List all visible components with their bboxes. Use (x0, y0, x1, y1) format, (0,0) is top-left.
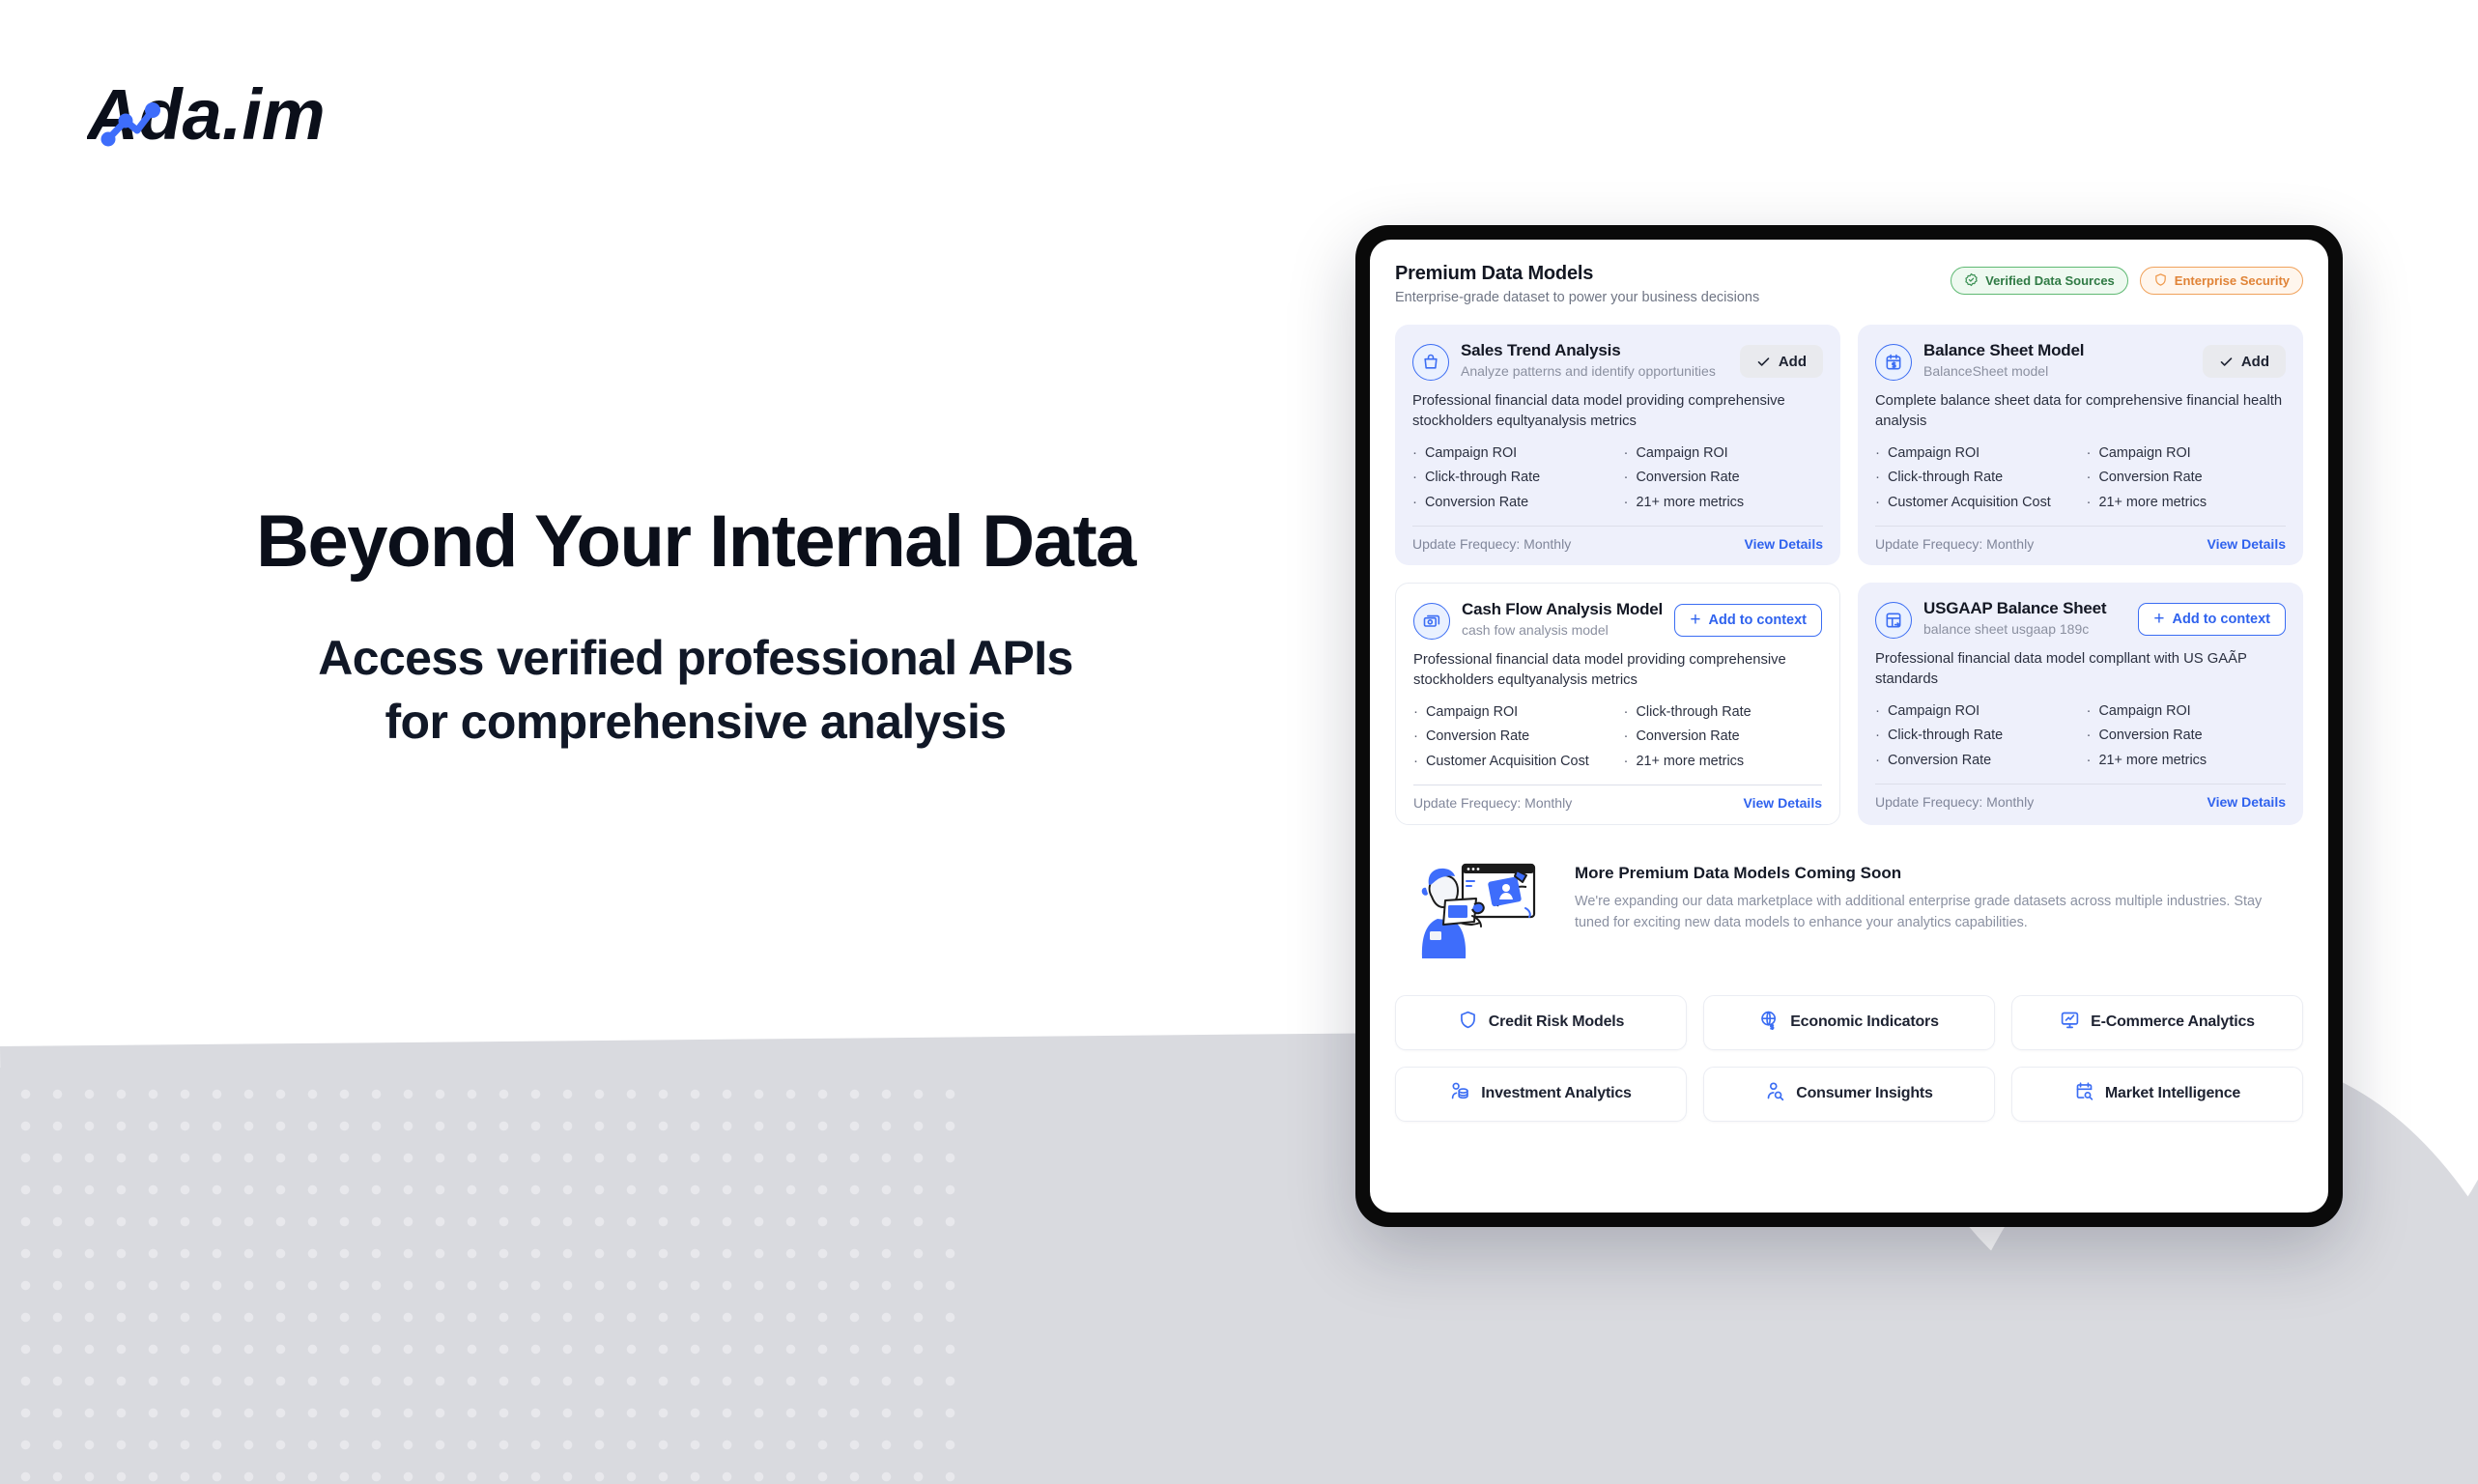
model-card-subtitle: BalanceSheet model (1923, 362, 2191, 380)
category-label: Consumer Insights (1796, 1085, 1933, 1102)
coming-soon-text: We're expanding our data marketplace wit… (1575, 892, 2290, 934)
metric-label: Conversion Rate (2099, 725, 2203, 747)
model-card-header: Cash Flow Analysis Model cash fow analys… (1413, 600, 1822, 640)
bullet-icon: · (2087, 442, 2092, 465)
category-consumer-insights[interactable]: Consumer Insights (1703, 1067, 1995, 1122)
category-label: E-Commerce Analytics (2091, 1013, 2255, 1031)
panel-title: Premium Data Models (1395, 263, 1759, 285)
category-label: Economic Indicators (1790, 1013, 1939, 1031)
panel-heading-group: Premium Data Models Enterprise-grade dat… (1395, 263, 1759, 305)
bullet-icon: · (1412, 492, 1417, 514)
bullet-icon: · (1412, 442, 1417, 465)
metric-label: Campaign ROI (1888, 700, 1980, 723)
bullet-icon: · (2087, 725, 2092, 747)
add-model-button[interactable]: Add (1740, 345, 1823, 378)
metric-item: ·Campaign ROI (1624, 442, 1824, 465)
divider (1413, 785, 1822, 785)
metric-label: Conversion Rate (1426, 726, 1529, 748)
model-metrics-list: ·Campaign ROI ·Campaign ROI ·Click-throu… (1875, 442, 2286, 514)
bullet-icon: · (1413, 726, 1418, 748)
device-screen: Premium Data Models Enterprise-grade dat… (1370, 240, 2328, 1213)
plus-icon: + (1690, 611, 1700, 629)
metric-label: Click-through Rate (1637, 701, 1752, 724)
coming-soon-body: More Premium Data Models Coming Soon We'… (1575, 858, 2290, 934)
view-details-link[interactable]: View Details (2207, 536, 2286, 552)
calendar-search-icon (2074, 1081, 2094, 1106)
shopping-bag-icon (1412, 344, 1449, 381)
bullet-icon: · (2087, 467, 2092, 489)
bullet-icon: · (1624, 442, 1629, 465)
model-card-header: USGAAP Balance Sheet balance sheet usgaa… (1875, 599, 2286, 639)
metric-label: Customer Acquisition Cost (1426, 751, 1589, 773)
update-frequency-label: Update Frequecy: Monthly (1412, 536, 1571, 552)
shield-icon (1458, 1010, 1478, 1035)
metric-label: 21+ more metrics (1637, 492, 1745, 514)
category-label: Investment Analytics (1481, 1085, 1631, 1102)
model-card[interactable]: USGAAP Balance Sheet balance sheet usgaa… (1858, 583, 2303, 825)
status-badge-security: Enterprise Security (2140, 267, 2303, 295)
table-export-icon (1875, 602, 1912, 639)
bullet-icon: · (1875, 750, 1880, 772)
model-card-grid: Sales Trend Analysis Analyze patterns an… (1395, 325, 2303, 825)
bullet-icon: · (1875, 492, 1880, 514)
metric-item: ·21+ more metrics (2087, 492, 2287, 514)
metric-label: Campaign ROI (1426, 701, 1518, 724)
metric-item: ·Campaign ROI (1413, 701, 1612, 724)
hero-subheadline-line1: Access verified professional APIs (318, 631, 1072, 685)
coming-soon-title: More Premium Data Models Coming Soon (1575, 864, 2290, 883)
hero-section: Beyond Your Internal Data Access verifie… (58, 502, 1333, 754)
metric-label: Conversion Rate (1637, 467, 1740, 489)
metric-label: Click-through Rate (1888, 467, 2003, 489)
bullet-icon: · (1624, 492, 1629, 514)
page-root: Ada.im Beyond Your Internal Data Access … (0, 0, 2478, 1484)
model-card-footer: Update Frequecy: Monthly View Details (1413, 795, 1822, 811)
person-reading-report-illustration (1409, 858, 1553, 966)
update-frequency-label: Update Frequecy: Monthly (1875, 536, 2034, 552)
category-investment-analytics[interactable]: Investment Analytics (1395, 1067, 1687, 1122)
metric-label: Campaign ROI (1425, 442, 1517, 465)
metric-item: ·21+ more metrics (1624, 751, 1823, 773)
model-card-titles: Cash Flow Analysis Model cash fow analys… (1462, 600, 1663, 639)
metric-item: ·Conversion Rate (1412, 492, 1612, 514)
model-card-footer: Update Frequecy: Monthly View Details (1412, 536, 1823, 552)
bullet-icon: · (2087, 750, 2092, 772)
model-card-title: Balance Sheet Model (1923, 341, 2191, 360)
coins-person-icon (1450, 1081, 1470, 1106)
category-market-intelligence[interactable]: Market Intelligence (2011, 1067, 2303, 1122)
metric-item: ·Campaign ROI (1412, 442, 1612, 465)
category-grid: Credit Risk Models Economic Indicators (1395, 995, 2303, 1122)
model-card-title: Cash Flow Analysis Model (1462, 600, 1663, 619)
model-card-title: USGAAP Balance Sheet (1923, 599, 2126, 618)
category-label: Credit Risk Models (1489, 1013, 1624, 1031)
hero-subheadline: Access verified professional APIs for co… (58, 626, 1333, 754)
model-metrics-list: ·Campaign ROI ·Click-through Rate ·Conve… (1413, 701, 1822, 773)
metric-item: ·Campaign ROI (1875, 700, 2075, 723)
view-details-link[interactable]: View Details (1744, 795, 1822, 811)
model-card-description: Professional financial data model compll… (1875, 649, 2286, 690)
view-details-link[interactable]: View Details (1745, 536, 1823, 552)
metric-label: Campaign ROI (2099, 442, 2191, 465)
check-icon (1756, 355, 1771, 369)
add-model-button[interactable]: Add (2203, 345, 2286, 378)
monitor-chart-icon (2060, 1010, 2080, 1035)
calendar-dollar-icon (1875, 344, 1912, 381)
add-to-context-button[interactable]: + Add to context (2138, 603, 2286, 636)
metric-item: ·Campaign ROI (2087, 700, 2287, 723)
metric-item: ·Conversion Rate (2087, 467, 2287, 489)
bullet-icon: · (1875, 467, 1880, 489)
metric-label: Click-through Rate (1888, 725, 2003, 747)
bullet-icon: · (1624, 751, 1629, 773)
metric-item: ·Conversion Rate (2087, 725, 2287, 747)
bullet-icon: · (1412, 467, 1417, 489)
panel-badges: Verified Data Sources Enterprise Securit… (1951, 263, 2303, 295)
add-model-button-label: Add (1779, 354, 1807, 370)
model-card-subtitle: balance sheet usgaap 189c (1923, 620, 2126, 638)
model-card-title: Sales Trend Analysis (1461, 341, 1728, 360)
metric-label: Conversion Rate (1888, 750, 1991, 772)
view-details-link[interactable]: View Details (2207, 794, 2286, 810)
category-label: Market Intelligence (2105, 1085, 2240, 1102)
model-card-titles: USGAAP Balance Sheet balance sheet usgaa… (1923, 599, 2126, 638)
model-card-header: Sales Trend Analysis Analyze patterns an… (1412, 341, 1823, 381)
bullet-icon: · (1875, 700, 1880, 723)
model-card-subtitle: cash fow analysis model (1462, 621, 1663, 639)
metric-item: ·Click-through Rate (1624, 701, 1823, 724)
model-metrics-list: ·Campaign ROI ·Campaign ROI ·Click-throu… (1412, 442, 1823, 514)
model-card-footer: Update Frequecy: Monthly View Details (1875, 794, 2286, 810)
metric-label: Campaign ROI (1888, 442, 1980, 465)
badge-label: Enterprise Security (2175, 273, 2290, 288)
metric-label: Campaign ROI (1637, 442, 1728, 465)
metric-item: ·21+ more metrics (2087, 750, 2287, 772)
globe-dollar-icon (1759, 1010, 1780, 1035)
bullet-icon: · (1875, 725, 1880, 747)
metric-label: 21+ more metrics (1637, 751, 1745, 773)
coming-soon-section: More Premium Data Models Coming Soon We'… (1395, 858, 2303, 966)
bullet-icon: · (1875, 442, 1880, 465)
model-card-description: Professional financial data model provid… (1412, 391, 1823, 432)
model-card-footer: Update Frequecy: Monthly View Details (1875, 536, 2286, 552)
person-search-icon (1765, 1081, 1785, 1106)
check-badge-icon (1964, 272, 1979, 290)
metric-item: ·Customer Acquisition Cost (1413, 751, 1612, 773)
model-card-header: Balance Sheet Model BalanceSheet model A… (1875, 341, 2286, 381)
metric-item: ·21+ more metrics (1624, 492, 1824, 514)
check-icon (2219, 355, 2234, 369)
model-card-titles: Balance Sheet Model BalanceSheet model (1923, 341, 2191, 380)
metric-label: 21+ more metrics (2099, 492, 2207, 514)
hero-headline: Beyond Your Internal Data (58, 502, 1333, 582)
metric-label: Conversion Rate (2099, 467, 2203, 489)
metric-item: ·Click-through Rate (1412, 467, 1612, 489)
model-card[interactable]: Cash Flow Analysis Model cash fow analys… (1395, 583, 1840, 825)
panel-subtitle: Enterprise-grade dataset to power your b… (1395, 290, 1759, 305)
bullet-icon: · (1624, 701, 1629, 724)
model-metrics-list: ·Campaign ROI ·Campaign ROI ·Click-throu… (1875, 700, 2286, 772)
bullet-icon: · (1413, 751, 1418, 773)
plus-icon: + (2153, 610, 2164, 628)
metric-item: ·Conversion Rate (1624, 467, 1824, 489)
bullet-icon: · (1413, 701, 1418, 724)
metric-item: ·Click-through Rate (1875, 467, 2075, 489)
model-card-description: Complete balance sheet data for comprehe… (1875, 391, 2286, 432)
metric-label: Click-through Rate (1425, 467, 1540, 489)
bullet-icon: · (1624, 467, 1629, 489)
update-frequency-label: Update Frequecy: Monthly (1875, 794, 2034, 810)
metric-label: Campaign ROI (2099, 700, 2191, 723)
model-card-description: Professional financial data model provid… (1413, 650, 1822, 691)
hero-subheadline-line2: for comprehensive analysis (385, 695, 1006, 749)
model-card-titles: Sales Trend Analysis Analyze patterns an… (1461, 341, 1728, 380)
update-frequency-label: Update Frequecy: Monthly (1413, 795, 1572, 811)
metric-label: Conversion Rate (1637, 726, 1740, 748)
category-credit-risk-models[interactable]: Credit Risk Models (1395, 995, 1687, 1050)
metric-label: Conversion Rate (1425, 492, 1528, 514)
metric-label: 21+ more metrics (2099, 750, 2207, 772)
model-card-subtitle: Analyze patterns and identify opportunit… (1461, 362, 1728, 380)
category-e-commerce-analytics[interactable]: E-Commerce Analytics (2011, 995, 2303, 1050)
divider (1875, 784, 2286, 785)
metric-item: ·Customer Acquisition Cost (1875, 492, 2075, 514)
badge-label: Verified Data Sources (1985, 273, 2115, 288)
divider (1875, 526, 2286, 527)
metric-item: ·Conversion Rate (1875, 750, 2075, 772)
add-to-context-button[interactable]: + Add to context (1674, 604, 1822, 637)
bullet-icon: · (2087, 492, 2092, 514)
metric-item: ·Campaign ROI (2087, 442, 2287, 465)
brand-logo[interactable]: Ada.im (87, 75, 396, 153)
bullet-icon: · (1624, 726, 1629, 748)
model-card[interactable]: Sales Trend Analysis Analyze patterns an… (1395, 325, 1840, 565)
add-to-context-button-label: Add to context (1709, 613, 1808, 628)
bullet-icon: · (2087, 700, 2092, 723)
cash-flow-icon (1413, 603, 1450, 640)
model-card[interactable]: Balance Sheet Model BalanceSheet model A… (1858, 325, 2303, 565)
category-economic-indicators[interactable]: Economic Indicators (1703, 995, 1995, 1050)
background-dot-pattern (0, 1068, 966, 1484)
metric-item: ·Click-through Rate (1875, 725, 2075, 747)
add-to-context-button-label: Add to context (2173, 612, 2271, 627)
shield-icon (2153, 272, 2168, 290)
metric-label: Customer Acquisition Cost (1888, 492, 2051, 514)
divider (1412, 526, 1823, 527)
device-frame: Premium Data Models Enterprise-grade dat… (1355, 225, 2343, 1227)
metric-item: ·Conversion Rate (1624, 726, 1823, 748)
metric-item: ·Conversion Rate (1413, 726, 1612, 748)
metric-item: ·Campaign ROI (1875, 442, 2075, 465)
status-badge-verified: Verified Data Sources (1951, 267, 2128, 295)
panel-header: Premium Data Models Enterprise-grade dat… (1395, 263, 2303, 305)
add-model-button-label: Add (2241, 354, 2269, 370)
